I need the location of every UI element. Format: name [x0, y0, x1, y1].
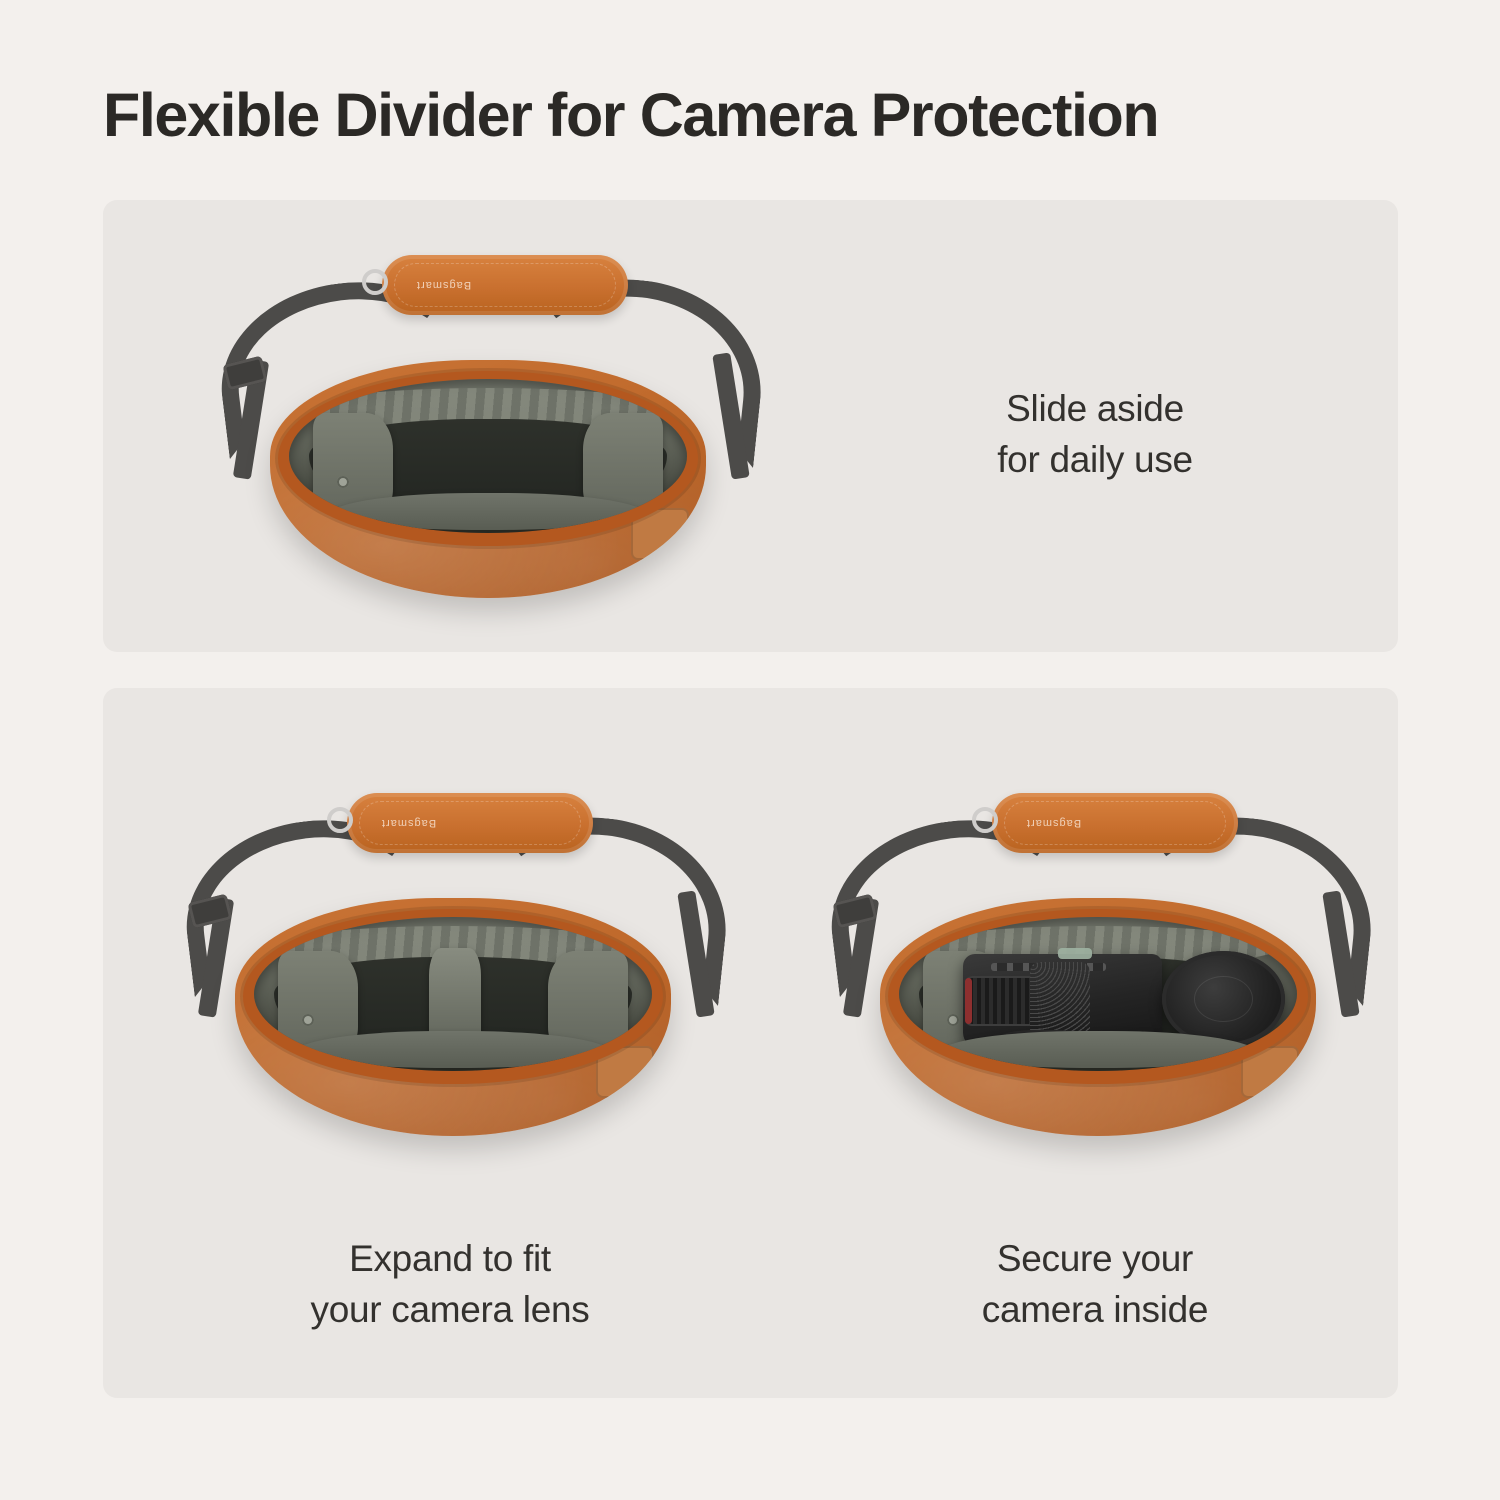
divider-snap-icon: [947, 1014, 959, 1026]
caption-slide-aside: Slide aside for daily use: [855, 383, 1335, 485]
bag-interior-lining: [289, 379, 687, 533]
brand-mark-label: Bagsmart: [416, 279, 471, 291]
caption-line-1: Expand to fit: [195, 1233, 705, 1284]
divider-snap-icon: [302, 1014, 314, 1026]
camera-grip: [1030, 962, 1090, 1040]
panel-expand-and-secure: Bagsmart Expand to fit your camera lens: [103, 688, 1398, 1398]
sling-bag-divider-slid-aside-photo: Bagsmart: [208, 255, 768, 605]
camera-lens-red-ring-icon: [965, 978, 972, 1024]
camera-lens-cap: [1162, 951, 1285, 1046]
caption-secure-camera: Secure your camera inside: [840, 1233, 1350, 1335]
camera-lens-barrel: [965, 976, 1037, 1026]
shoulder-pad: Bagsmart: [347, 793, 593, 853]
shoulder-pad: Bagsmart: [382, 255, 628, 315]
brand-mark-label: Bagsmart: [381, 817, 436, 829]
caption-line-1: Slide aside: [855, 383, 1335, 434]
sling-bag-divider-expanded-photo: Bagsmart: [173, 793, 733, 1143]
page-title: Flexible Divider for Camera Protection: [103, 82, 1403, 149]
panel-slide-aside: Bagsmart Slide aside for daily use: [103, 200, 1398, 652]
divider-flap-bottom: [294, 1031, 612, 1068]
caption-expand-to-fit: Expand to fit your camera lens: [195, 1233, 705, 1335]
divider-flap-bottom: [329, 493, 647, 530]
bag-interior-lining: [254, 917, 652, 1071]
brand-mark-label: Bagsmart: [1026, 817, 1081, 829]
shoulder-pad: Bagsmart: [992, 793, 1238, 853]
strap-d-ring-icon: [362, 269, 388, 295]
caption-line-2: camera inside: [840, 1284, 1350, 1335]
accessory-item: [1058, 948, 1092, 959]
caption-line-2: your camera lens: [195, 1284, 705, 1335]
bag-interior-lining: [899, 917, 1297, 1071]
strap-d-ring-icon: [327, 807, 353, 833]
caption-line-2: for daily use: [855, 434, 1335, 485]
caption-line-1: Secure your: [840, 1233, 1350, 1284]
divider-snap-icon: [337, 476, 349, 488]
divider-flap-bottom: [939, 1031, 1257, 1068]
strap-d-ring-icon: [972, 807, 998, 833]
sling-bag-with-camera-inside-photo: Bagsmart: [818, 793, 1378, 1143]
